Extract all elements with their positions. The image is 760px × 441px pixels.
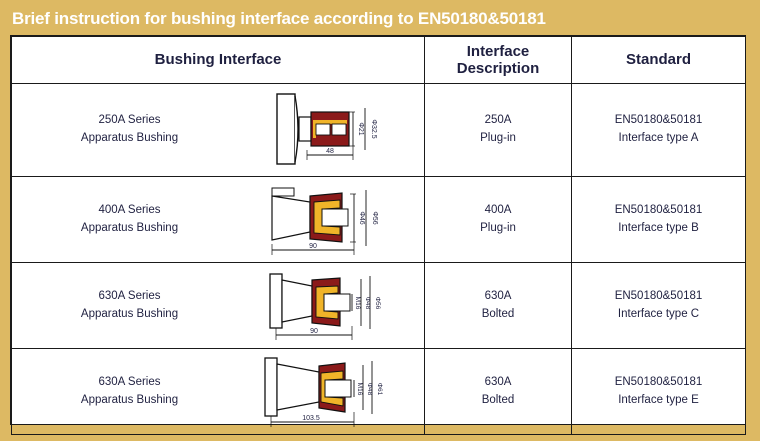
dim-outer-label: Φ61 — [376, 382, 383, 395]
dim-outer-label: Φ56 — [374, 296, 381, 309]
bushing-name-line2: Apparatus Bushing — [12, 306, 247, 324]
page-root: Brief instruction for bushing interface … — [0, 0, 760, 441]
header-interface-description: Interface Description — [425, 37, 572, 84]
dim-inner-label: Φ46 — [358, 211, 365, 224]
bushing-name: 630A Series Apparatus Bushing — [12, 374, 247, 410]
header-bushing-interface: Bushing Interface — [12, 37, 425, 84]
cell-interface-description: 250A Plug-in — [425, 84, 572, 177]
std-line1: EN50180&50181 — [572, 288, 745, 306]
dim-length-label: 90 — [310, 328, 318, 335]
header-interface-description-line2: Description — [425, 60, 571, 77]
table-header-row: Bushing Interface Interface Description … — [12, 37, 746, 84]
page-title: Brief instruction for bushing interface … — [12, 6, 732, 32]
std-line2: Interface type A — [572, 130, 745, 148]
desc-line2: Bolted — [425, 306, 571, 324]
desc-line1: 400A — [425, 202, 571, 220]
cell-interface-description: 630A Bolted — [425, 263, 572, 349]
dim-inner-label: Φ48 — [364, 296, 371, 309]
bushing-name-line1: 400A Series — [12, 202, 247, 220]
bushing-name-line1: 250A Series — [12, 112, 247, 130]
desc-line2: Plug-in — [425, 220, 571, 238]
bushing-table-container: Bushing Interface Interface Description … — [10, 35, 746, 425]
dim-length-label: 48 — [326, 148, 334, 155]
dim-inner-label: Φ48 — [366, 382, 373, 395]
dim-thread-label: M16 — [356, 382, 363, 395]
table-row: 630A Series Apparatus Bushing — [12, 349, 746, 435]
bushing-name-line2: Apparatus Bushing — [12, 220, 247, 238]
std-line2: Interface type C — [572, 306, 745, 324]
dim-outer-label: Φ32.5 — [370, 119, 377, 138]
header-standard: Standard — [572, 37, 746, 84]
std-line2: Interface type B — [572, 220, 745, 238]
std-line1: EN50180&50181 — [572, 202, 745, 220]
table-row: 630A Series Apparatus Bushing — [12, 263, 746, 349]
cell-standard: EN50180&50181 Interface type B — [572, 177, 746, 263]
desc-line1: 250A — [425, 112, 571, 130]
dim-outer-label: Φ56 — [371, 211, 378, 224]
std-line1: EN50180&50181 — [572, 112, 745, 130]
cell-bushing-interface: 400A Series Apparatus Bushing — [12, 177, 425, 263]
header-interface-description-line1: Interface — [425, 43, 571, 60]
dim-inner-label: Φ21 — [357, 122, 364, 135]
bushing-name-line2: Apparatus Bushing — [12, 392, 247, 410]
table-row: 400A Series Apparatus Bushing — [12, 177, 746, 263]
bushing-name-line1: 630A Series — [12, 374, 247, 392]
bushing-name-line2: Apparatus Bushing — [12, 130, 247, 148]
bushing-drawing-630a-c: M16 Φ48 Φ56 90 — [247, 263, 424, 348]
cell-standard: EN50180&50181 Interface type C — [572, 263, 746, 349]
bushing-name-line1: 630A Series — [12, 288, 247, 306]
desc-line2: Plug-in — [425, 130, 571, 148]
table-row: 250A Series Apparatus Bushing — [12, 84, 746, 177]
cell-standard: EN50180&50181 Interface type E — [572, 349, 746, 435]
desc-line1: 630A — [425, 288, 571, 306]
dim-length-label: 103.5 — [302, 415, 320, 422]
bushing-name: 250A Series Apparatus Bushing — [12, 112, 247, 148]
cell-bushing-interface: 630A Series Apparatus Bushing — [12, 263, 425, 349]
bushing-name: 630A Series Apparatus Bushing — [12, 288, 247, 324]
cell-interface-description: 400A Plug-in — [425, 177, 572, 263]
cell-bushing-interface: 630A Series Apparatus Bushing — [12, 349, 425, 435]
desc-line2: Bolted — [425, 392, 571, 410]
bushing-name: 400A Series Apparatus Bushing — [12, 202, 247, 238]
bushing-drawing-630a-e: M16 Φ48 Φ61 103.5 — [247, 349, 424, 434]
std-line1: EN50180&50181 — [572, 374, 745, 392]
bushing-drawing-250a: Φ21 Φ32.5 48 — [247, 84, 424, 176]
bushing-table: Bushing Interface Interface Description … — [11, 36, 746, 435]
std-line2: Interface type E — [572, 392, 745, 410]
desc-line1: 630A — [425, 374, 571, 392]
bushing-drawing-400a: Φ46 Φ56 90 — [247, 177, 424, 262]
cell-standard: EN50180&50181 Interface type A — [572, 84, 746, 177]
dim-length-label: 90 — [309, 243, 317, 250]
cell-bushing-interface: 250A Series Apparatus Bushing — [12, 84, 425, 177]
cell-interface-description: 630A Bolted — [425, 349, 572, 435]
dim-thread-label: M16 — [354, 296, 361, 309]
